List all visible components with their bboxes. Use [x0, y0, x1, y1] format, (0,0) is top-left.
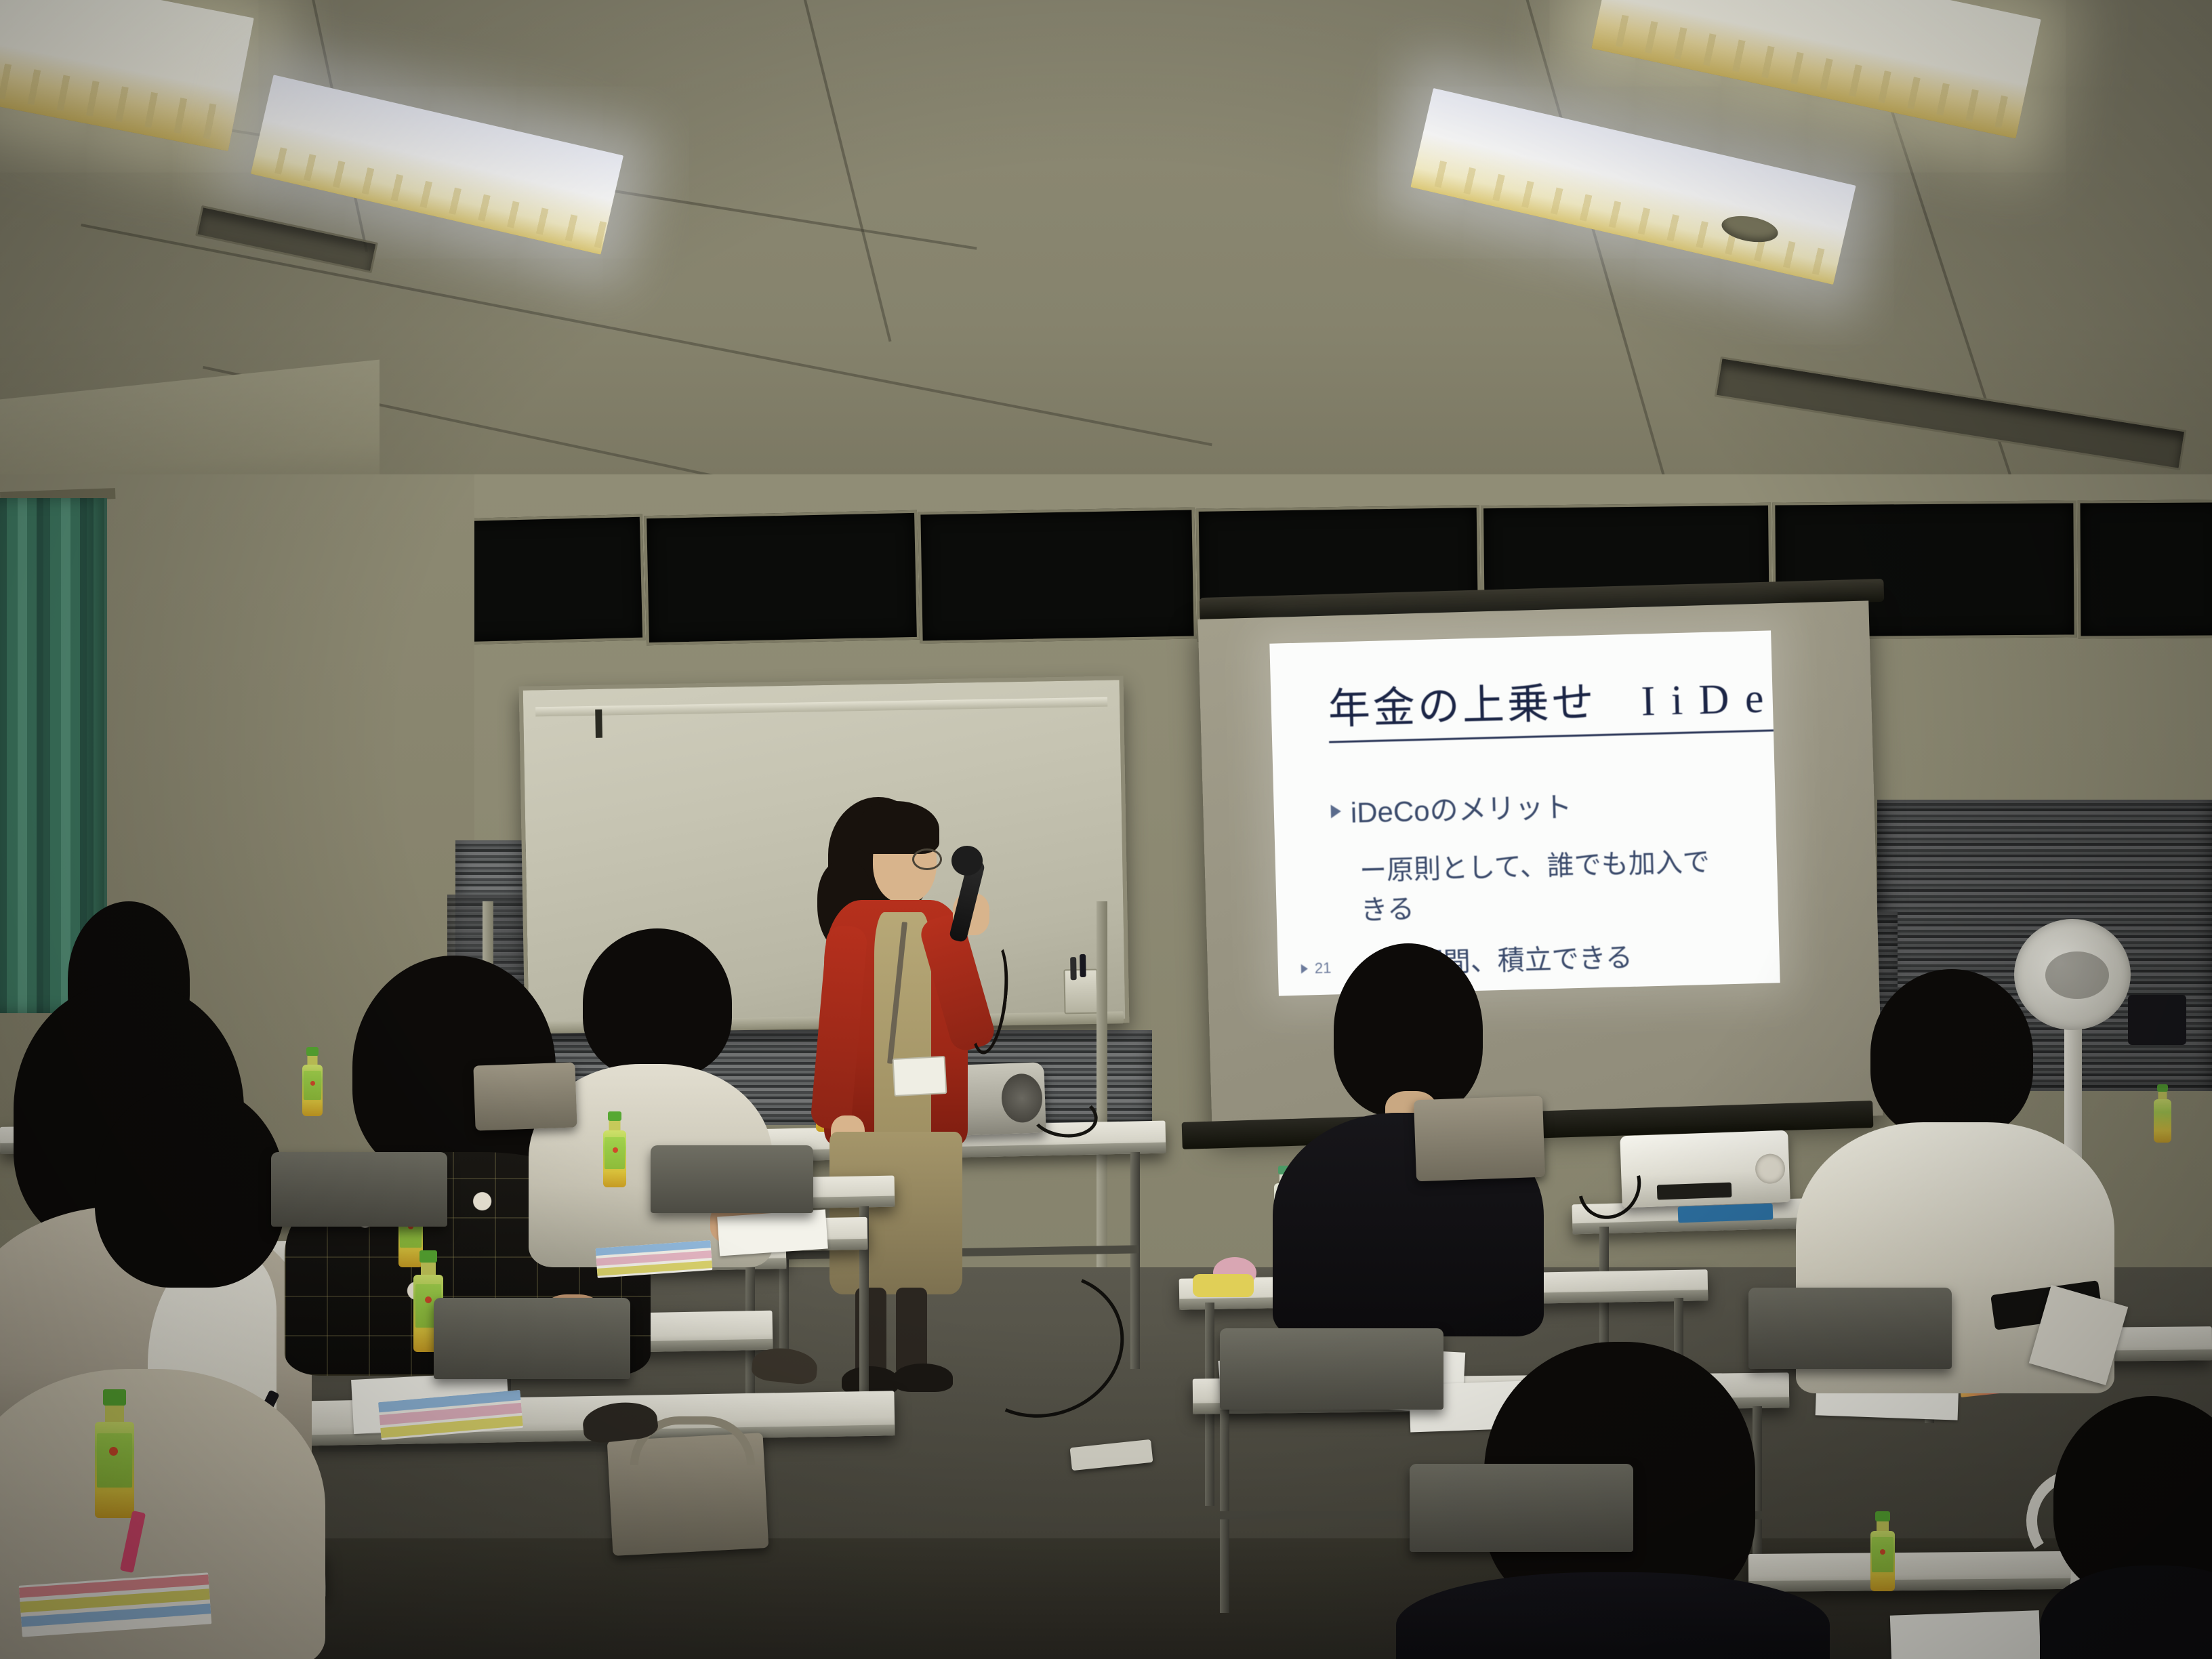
attendee-torso: [1396, 1572, 1830, 1659]
paper-sheet: [717, 1209, 828, 1256]
blue-cable-bundle: [1678, 1204, 1774, 1223]
label-accent-dot: [109, 1447, 118, 1456]
bottle-neck: [2158, 1092, 2167, 1099]
projector-lens: [1755, 1153, 1786, 1185]
green-tea-bottle: [603, 1111, 626, 1187]
chair: [651, 1145, 813, 1213]
presenter: [793, 786, 1010, 1396]
bottle-label: [1872, 1537, 1893, 1572]
pen-icon: [1080, 954, 1086, 977]
slide-content: 年金の上乗せ I i D e C o iDeCoのメリット ー原則として、誰でも…: [1269, 630, 1780, 996]
chair: [434, 1298, 630, 1379]
bottle-neck: [421, 1263, 436, 1275]
bottle-body: [95, 1422, 134, 1518]
label-accent-dot: [425, 1296, 432, 1303]
presenter-shoe: [893, 1364, 953, 1392]
green-tea-bottle: [302, 1047, 323, 1116]
yellow-case: [1193, 1274, 1254, 1297]
bottle-cap: [419, 1250, 437, 1263]
handbag: [1414, 1096, 1545, 1182]
whiteboard-top-rail: [535, 697, 1108, 717]
name-badge: [893, 1056, 947, 1097]
slide-bullet-text: iDeCoのメリット: [1350, 784, 1572, 832]
paper-sheet: [1890, 1610, 2041, 1659]
projector: [1620, 1130, 1790, 1208]
bottle-neck: [308, 1056, 318, 1065]
attendee-hair: [1870, 969, 2033, 1139]
attendee-torso: [2040, 1565, 2212, 1659]
whiteboard-stand-leg: [1097, 901, 1107, 1322]
dark-equipment-box: [2128, 995, 2186, 1045]
bottle-label: [97, 1433, 131, 1488]
attendee-right-edge: [2053, 1396, 2212, 1659]
presenter-skirt: [829, 1132, 962, 1294]
bottle-cap: [2157, 1084, 2168, 1092]
transom-window: [454, 514, 645, 645]
slide-bullet-level1: iDeCoのメリット: [1330, 780, 1735, 832]
whiteboard-clip: [595, 710, 602, 738]
pen-cup: [1063, 969, 1098, 1015]
table-leg: [1130, 1152, 1140, 1369]
green-tea-bottle: [1870, 1511, 1895, 1591]
chair: [1748, 1288, 1952, 1369]
transom-window: [2077, 499, 2212, 638]
classroom-photo-scene: 年金の上乗せ I i D e C o iDeCoのメリット ー原則として、誰でも…: [0, 0, 2212, 1659]
handbag: [473, 1062, 577, 1130]
projected-slide: 年金の上乗せ I i D e C o iDeCoのメリット ー原則として、誰でも…: [1269, 630, 1780, 996]
bottle-neck: [609, 1121, 621, 1130]
green-tea-bottle: [95, 1389, 134, 1518]
bottle-label: [605, 1137, 625, 1169]
bullet-triangle-icon: [1331, 804, 1342, 818]
bottle-cap: [608, 1111, 621, 1121]
green-tea-bottle: [2154, 1084, 2171, 1143]
microphone-head: [951, 846, 983, 876]
presenter-hair-front: [858, 801, 939, 854]
label-accent-dot: [1880, 1549, 1885, 1555]
bottle-body: [302, 1065, 323, 1116]
glasses-icon: [912, 848, 942, 870]
bottle-cap: [103, 1389, 126, 1406]
pen-icon: [1070, 957, 1077, 980]
projector-ports: [1657, 1183, 1732, 1200]
chair: [1410, 1464, 1633, 1552]
bottle-neck: [105, 1406, 124, 1422]
bottle-cap: [1875, 1511, 1890, 1521]
presenter-leg: [896, 1288, 927, 1376]
bottle-neck: [1877, 1521, 1889, 1531]
chair: [271, 1152, 447, 1227]
slide-title: 年金の上乗せ I i D e C o: [1328, 661, 1780, 743]
slide-bullet-level2: ー原則として、誰でも加入できる: [1359, 839, 1738, 928]
transom-window: [918, 507, 1196, 643]
bottle-body: [1870, 1531, 1895, 1591]
bottle-body: [2154, 1099, 2171, 1143]
bottle-cap: [306, 1047, 319, 1056]
transom-window: [644, 510, 920, 645]
attendee-hair: [583, 928, 732, 1078]
bottle-body: [603, 1130, 626, 1187]
attendee-hair: [95, 1084, 285, 1288]
